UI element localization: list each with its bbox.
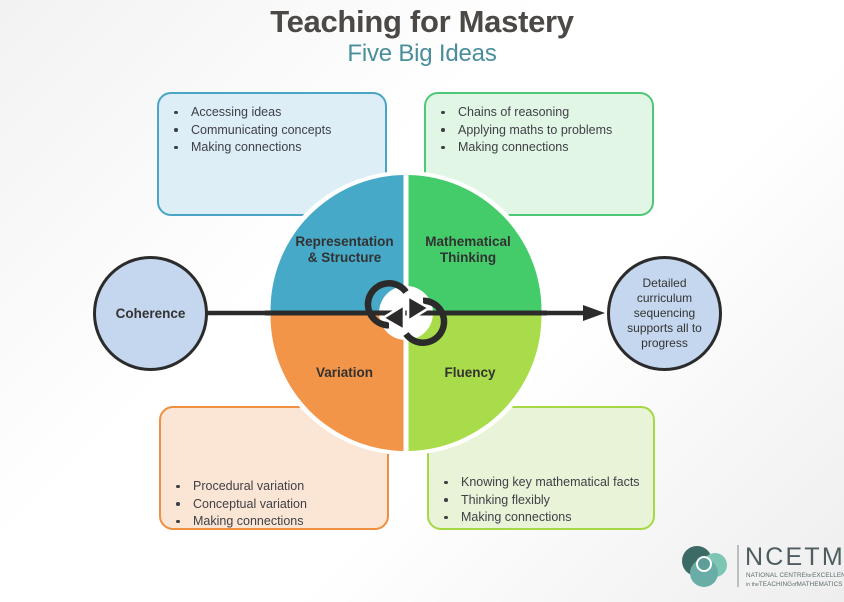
callout-list: Accessing ideas Communicating concepts M… bbox=[159, 94, 385, 156]
ncetm-logo-mark-icon bbox=[678, 543, 732, 589]
callout-list: Chains of reasoning Applying maths to pr… bbox=[426, 94, 652, 156]
tagline-part: EXCELLENCE bbox=[812, 572, 844, 579]
list-item: Thinking flexibly bbox=[435, 492, 653, 509]
list-item: Conceptual variation bbox=[167, 496, 387, 513]
outcome-label: Detailed curriculum sequencing supports … bbox=[610, 276, 719, 351]
list-item: Accessing ideas bbox=[165, 104, 385, 121]
logo-wordmark: NCETM bbox=[745, 543, 844, 572]
quadrant-variation bbox=[270, 316, 403, 452]
list-item: Applying maths to problems bbox=[432, 122, 652, 139]
list-item: Chains of reasoning bbox=[432, 104, 652, 121]
list-item: Making connections bbox=[167, 513, 387, 530]
list-item: Communicating concepts bbox=[165, 122, 385, 139]
page-subtitle: Five Big Ideas bbox=[0, 40, 844, 68]
list-item: Making connections bbox=[165, 139, 385, 156]
page-title: Teaching for Mastery bbox=[0, 4, 844, 40]
logo-tagline-line-1: NATIONAL CENTREforEXCELLENCE bbox=[746, 572, 844, 579]
list-item: Procedural variation bbox=[167, 478, 387, 495]
tagline-part: NATIONAL CENTRE bbox=[746, 572, 806, 579]
coherence-circle: Coherence bbox=[93, 256, 208, 371]
four-quadrant-wheel bbox=[265, 165, 547, 461]
diagram-canvas: Teaching for Mastery Five Big Ideas Acce… bbox=[0, 0, 844, 602]
list-item: Knowing key mathematical facts bbox=[435, 474, 653, 491]
outcome-circle: Detailed curriculum sequencing supports … bbox=[607, 256, 722, 371]
ncetm-logo: NCETM NATIONAL CENTREforEXCELLENCE in th… bbox=[678, 541, 840, 593]
coherence-label: Coherence bbox=[116, 306, 186, 321]
tagline-part: TEACHING bbox=[759, 581, 792, 588]
quadrant-mathematical-thinking bbox=[409, 175, 542, 311]
logo-divider bbox=[737, 545, 739, 587]
quadrant-fluency bbox=[409, 316, 542, 452]
tagline-part: MATHEMATICS bbox=[797, 581, 843, 588]
list-item: Making connections bbox=[432, 139, 652, 156]
tagline-part: in the bbox=[746, 582, 759, 588]
quadrant-representation bbox=[270, 175, 403, 311]
list-item: Making connections bbox=[435, 509, 653, 526]
logo-tagline-line-2: in theTEACHINGofMATHEMATICS bbox=[746, 581, 843, 588]
